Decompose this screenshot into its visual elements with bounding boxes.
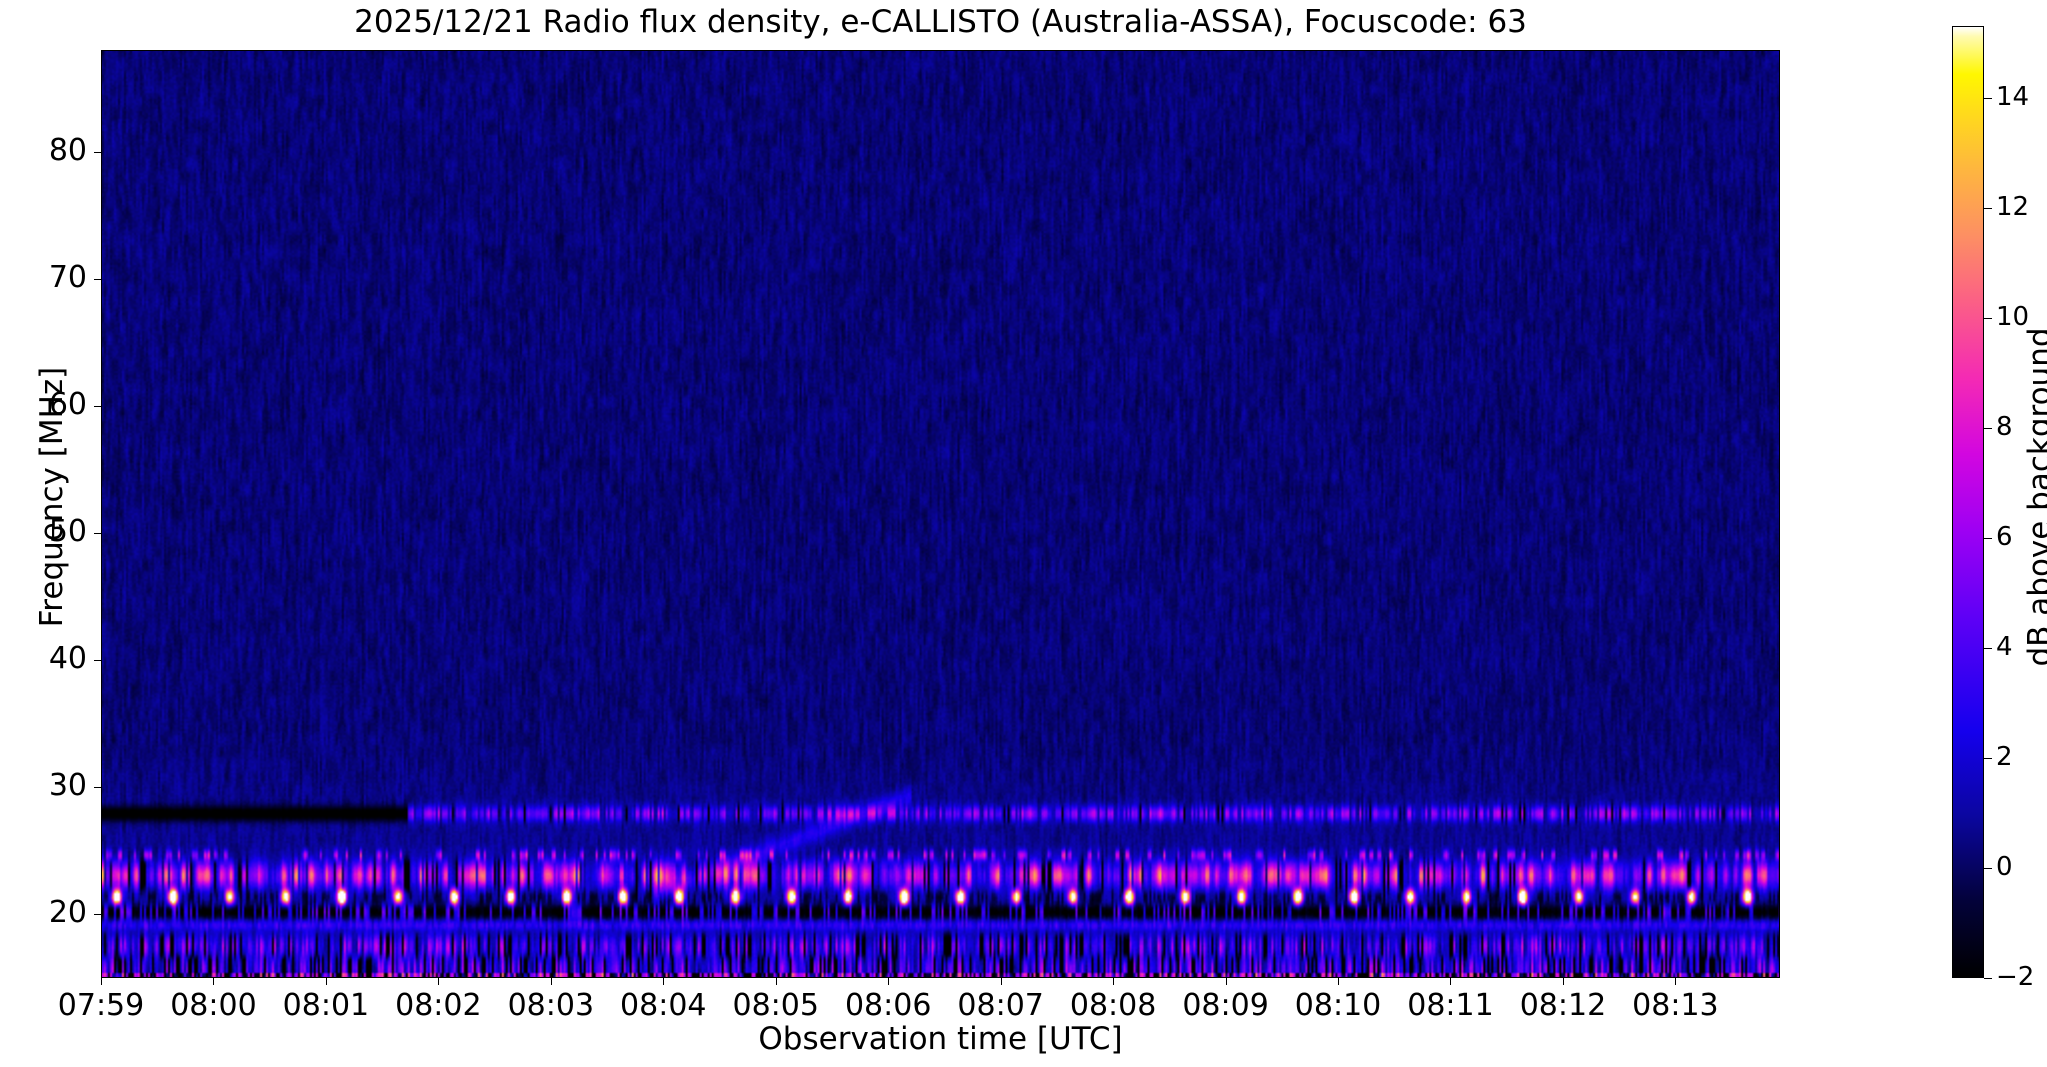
x-tick-mark xyxy=(1563,978,1564,985)
x-tick-mark xyxy=(1450,978,1451,985)
x-tick-mark xyxy=(663,978,664,985)
page-title: 2025/12/21 Radio flux density, e-CALLIST… xyxy=(101,2,1780,42)
colorbar-tick-label: 6 xyxy=(1996,522,2013,552)
y-tick-label: 80 xyxy=(49,133,87,169)
x-tick-mark xyxy=(101,978,102,985)
y-tick-mark xyxy=(94,152,101,153)
y-tick-mark xyxy=(94,533,101,534)
y-tick-mark xyxy=(94,406,101,407)
y-tick-label: 20 xyxy=(49,895,87,931)
x-tick-label: 08:07 xyxy=(941,988,1061,1024)
x-tick-label: 08:06 xyxy=(828,988,948,1024)
x-tick-label: 08:09 xyxy=(1166,988,1286,1024)
colorbar-tick-mark xyxy=(1984,868,1992,869)
x-tick-mark xyxy=(1113,978,1114,985)
colorbar-tick-mark xyxy=(1984,208,1992,209)
spectrogram-image xyxy=(102,51,1780,978)
colorbar-tick-mark xyxy=(1984,648,1992,649)
y-tick-mark xyxy=(94,914,101,915)
y-tick-mark xyxy=(94,660,101,661)
colorbar xyxy=(1952,26,1984,978)
x-tick-label: 08:12 xyxy=(1503,988,1623,1024)
colorbar-tick-label: 0 xyxy=(1996,852,2013,882)
y-tick-label: 30 xyxy=(49,768,87,804)
spectrogram-axes xyxy=(101,50,1780,978)
x-tick-label: 07:59 xyxy=(41,988,161,1024)
x-tick-label: 08:02 xyxy=(378,988,498,1024)
colorbar-tick-mark xyxy=(1984,978,1992,979)
figure-canvas: 2025/12/21 Radio flux density, e-CALLIST… xyxy=(0,0,2047,1067)
x-tick-label: 08:00 xyxy=(153,988,273,1024)
x-tick-label: 08:04 xyxy=(603,988,723,1024)
y-axis-label: Frequency [MHz] xyxy=(33,237,71,757)
colorbar-tick-label: 12 xyxy=(1996,192,2029,222)
x-tick-label: 08:01 xyxy=(266,988,386,1024)
x-tick-mark xyxy=(888,978,889,985)
x-tick-mark xyxy=(1338,978,1339,985)
x-tick-mark xyxy=(326,978,327,985)
colorbar-tick-mark xyxy=(1984,428,1992,429)
x-tick-mark xyxy=(1226,978,1227,985)
x-tick-label: 08:08 xyxy=(1053,988,1173,1024)
x-tick-mark xyxy=(1675,978,1676,985)
x-tick-label: 08:05 xyxy=(716,988,836,1024)
x-axis-label: Observation time [UTC] xyxy=(101,1020,1780,1058)
colorbar-tick-label: 2 xyxy=(1996,742,2013,772)
x-tick-label: 08:13 xyxy=(1615,988,1735,1024)
colorbar-label: dB above background xyxy=(2021,287,2047,707)
colorbar-tick-label: 8 xyxy=(1996,412,2013,442)
x-tick-label: 08:10 xyxy=(1278,988,1398,1024)
x-tick-mark xyxy=(1001,978,1002,985)
colorbar-tick-mark xyxy=(1984,318,1992,319)
colorbar-tick-label: 14 xyxy=(1996,82,2029,112)
colorbar-tick-label: 4 xyxy=(1996,632,2013,662)
y-tick-mark xyxy=(94,787,101,788)
y-tick-mark xyxy=(94,279,101,280)
colorbar-tick-mark xyxy=(1984,538,1992,539)
x-tick-mark xyxy=(213,978,214,985)
colorbar-tick-mark xyxy=(1984,98,1992,99)
colorbar-tick-mark xyxy=(1984,758,1992,759)
x-tick-mark xyxy=(438,978,439,985)
x-tick-mark xyxy=(776,978,777,985)
colorbar-tick-label: −2 xyxy=(1996,962,2034,992)
x-tick-mark xyxy=(551,978,552,985)
x-tick-label: 08:11 xyxy=(1390,988,1510,1024)
x-tick-label: 08:03 xyxy=(491,988,611,1024)
